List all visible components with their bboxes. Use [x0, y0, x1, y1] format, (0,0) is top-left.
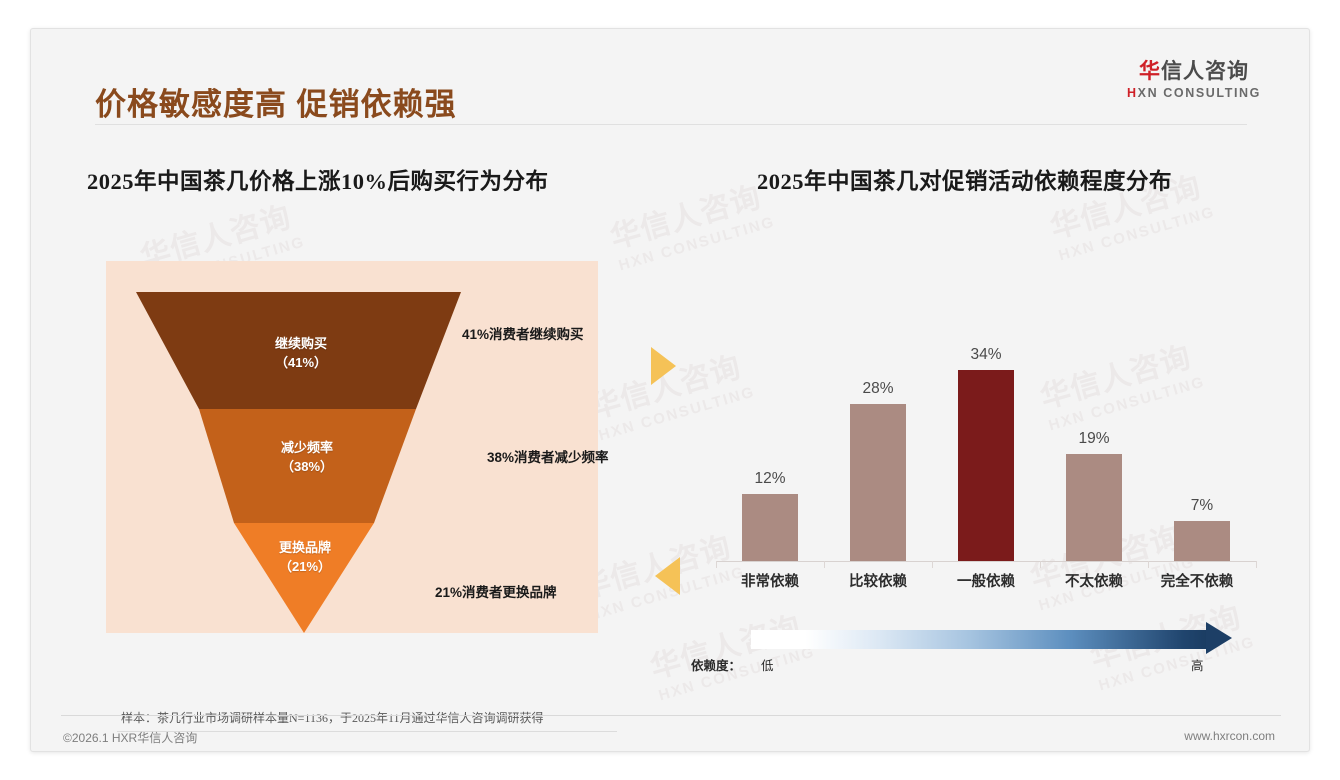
- scale-high-label: 高: [1191, 655, 1204, 674]
- bar-value-label: 28%: [862, 380, 893, 398]
- category-label: 比较依赖: [824, 570, 932, 591]
- footer-divider: [61, 715, 1281, 716]
- bar-rect[interactable]: [1066, 454, 1122, 561]
- logo-english: HXN CONSULTING: [1127, 86, 1261, 100]
- bar-column[interactable]: 19%: [1040, 336, 1148, 561]
- play-triangle-right-icon: [651, 347, 676, 385]
- scale-low-label: 低: [761, 655, 774, 674]
- right-chart-title: 2025年中国茶几对促销活动依赖程度分布: [757, 164, 1172, 196]
- watermark: 华信人咨询HXN CONSULTING: [607, 178, 778, 275]
- bar-chart-axis: [716, 561, 1256, 562]
- funnel-note-1: 41%消费者继续购买: [462, 323, 584, 343]
- logo-char-red: 华: [1139, 60, 1161, 83]
- header-divider: [95, 124, 1247, 125]
- left-chart-title: 2025年中国茶几价格上涨10%后购买行为分布: [87, 164, 549, 196]
- axis-tick: [716, 561, 717, 568]
- logo-chinese: 华信人咨询: [1127, 59, 1261, 84]
- bar-value-label: 7%: [1191, 497, 1213, 515]
- play-triangle-left-icon: [655, 557, 680, 595]
- dependency-scale: 依赖度： 低 高: [691, 624, 1271, 684]
- bar-value-label: 34%: [970, 346, 1001, 364]
- category-label: 一般依赖: [932, 570, 1040, 591]
- bar-rect[interactable]: [850, 404, 906, 561]
- bar-value-label: 12%: [754, 470, 785, 488]
- bar-column[interactable]: 7%: [1148, 336, 1256, 561]
- footer-website[interactable]: www.hxrcon.com: [1184, 729, 1275, 743]
- category-label: 非常依赖: [716, 570, 824, 591]
- logo-en-rest: XN CONSULTING: [1138, 86, 1261, 100]
- bar-column[interactable]: 12%: [716, 336, 824, 561]
- bar-rect[interactable]: [1174, 521, 1230, 561]
- bar-rect[interactable]: [742, 494, 798, 561]
- axis-tick: [932, 561, 933, 568]
- page-title: 价格敏感度高 促销依赖强: [95, 79, 457, 124]
- arrow-right-icon: [1206, 622, 1232, 654]
- slide-canvas: 华信人咨询HXN CONSULTING 华信人咨询HXN CONSULTING …: [30, 28, 1310, 752]
- funnel-segment-1[interactable]: [136, 292, 461, 409]
- bar-rect-highlighted[interactable]: [958, 370, 1014, 561]
- brand-logo: 华信人咨询 HXN CONSULTING: [1127, 59, 1261, 100]
- logo-chars-gray: 信人咨询: [1161, 60, 1249, 83]
- scale-gradient-bar: [751, 630, 1206, 649]
- axis-tick: [1040, 561, 1041, 568]
- axis-tick: [824, 561, 825, 568]
- category-label: 不太依赖: [1040, 570, 1148, 591]
- footer-copyright: ©2026.1 HXR华信人咨询: [63, 729, 197, 746]
- funnel-note-3: 21%消费者更换品牌: [435, 581, 557, 601]
- category-label: 完全不依赖: [1143, 570, 1251, 591]
- funnel-segment-2[interactable]: [199, 409, 416, 523]
- dependency-bar-chart: 12% 28% 34% 19% 7% 非常依赖 比较依赖 一般依赖 不太依赖 完…: [691, 299, 1271, 599]
- funnel-note-2: 38%消费者减少频率: [487, 446, 609, 466]
- bar-column[interactable]: 28%: [824, 336, 932, 561]
- axis-tick: [1148, 561, 1149, 568]
- funnel-chart: 继续购买 （41%） 减少频率 （38%） 更换品牌 （21%） 41%消费者继…: [106, 261, 598, 633]
- bar-column[interactable]: 34%: [932, 336, 1040, 561]
- scale-title: 依赖度：: [691, 655, 741, 674]
- axis-tick: [1256, 561, 1257, 568]
- funnel-segment-3[interactable]: [234, 523, 374, 633]
- logo-en-initial: H: [1127, 86, 1138, 100]
- footer: ©2026.1 HXR华信人咨询 www.hxrcon.com: [31, 721, 1310, 752]
- bar-value-label: 19%: [1078, 430, 1109, 448]
